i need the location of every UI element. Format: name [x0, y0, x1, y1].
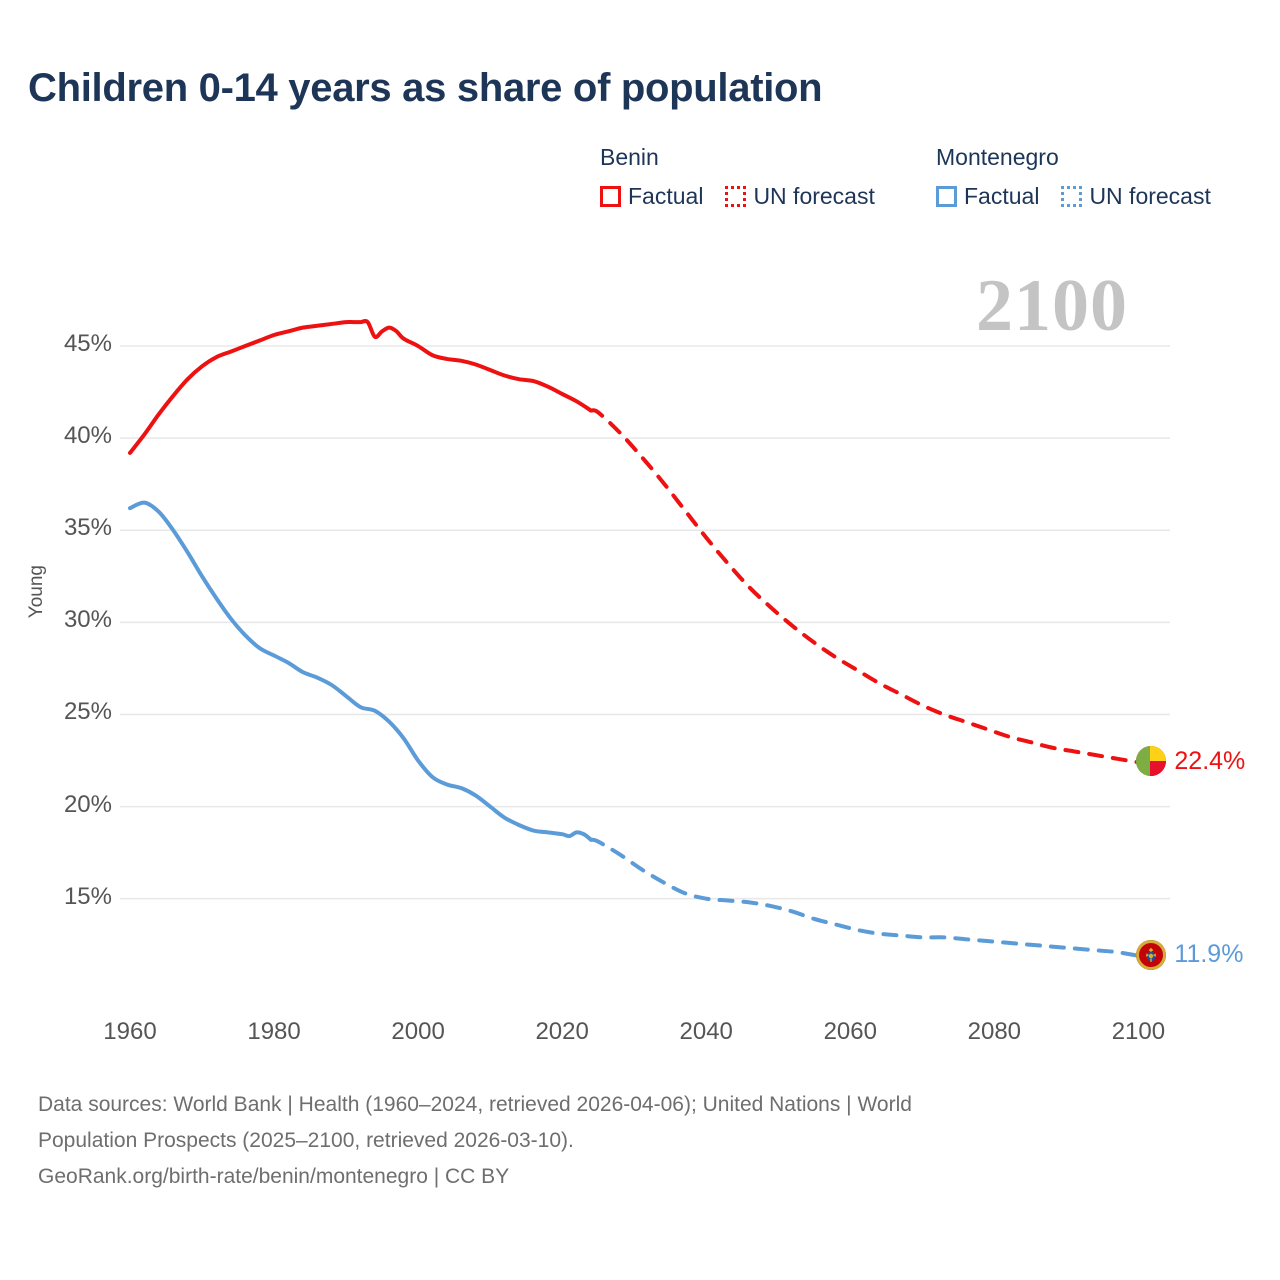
end-value-montenegro: 11.9%	[1174, 940, 1243, 969]
gridlines	[120, 346, 1170, 899]
footer-line-2: Population Prospects (2025–2100, retriev…	[38, 1123, 1218, 1159]
benin-flag-icon	[1136, 746, 1166, 776]
y-tick-label: 45%	[32, 330, 112, 358]
footer-sources: Data sources: World Bank | Health (1960–…	[38, 1087, 1218, 1195]
chart-root: Children 0-14 years as share of populati…	[0, 0, 1280, 1280]
x-tick-label: 2020	[502, 1018, 622, 1046]
end-label-benin: 22.4%	[1136, 746, 1245, 776]
x-tick-label: 1960	[70, 1018, 190, 1046]
y-tick-label: 20%	[32, 791, 112, 819]
end-label-montenegro: 11.9%	[1136, 940, 1243, 970]
y-tick-label: 30%	[32, 606, 112, 634]
series-lines	[130, 321, 1138, 956]
y-tick-label: 15%	[32, 883, 112, 911]
x-tick-label: 2100	[1078, 1018, 1198, 1046]
x-tick-label: 2000	[358, 1018, 478, 1046]
y-tick-label: 25%	[32, 698, 112, 726]
line-factual-benin	[130, 321, 591, 453]
footer-line-1: Data sources: World Bank | Health (1960–…	[38, 1087, 1218, 1123]
line-forecast-montenegro	[591, 840, 1138, 956]
footer-line-3: GeoRank.org/birth-rate/benin/montenegro …	[38, 1159, 1218, 1195]
x-tick-label: 2060	[790, 1018, 910, 1046]
line-factual-montenegro	[130, 503, 591, 840]
x-tick-label: 1980	[214, 1018, 334, 1046]
end-value-benin: 22.4%	[1174, 747, 1245, 776]
montenegro-flag-icon	[1136, 940, 1166, 970]
x-tick-label: 2040	[646, 1018, 766, 1046]
y-tick-label: 35%	[32, 514, 112, 542]
line-forecast-benin	[591, 410, 1138, 762]
y-tick-label: 40%	[32, 422, 112, 450]
eagle-emblem-icon	[1144, 947, 1158, 963]
x-tick-label: 2080	[934, 1018, 1054, 1046]
